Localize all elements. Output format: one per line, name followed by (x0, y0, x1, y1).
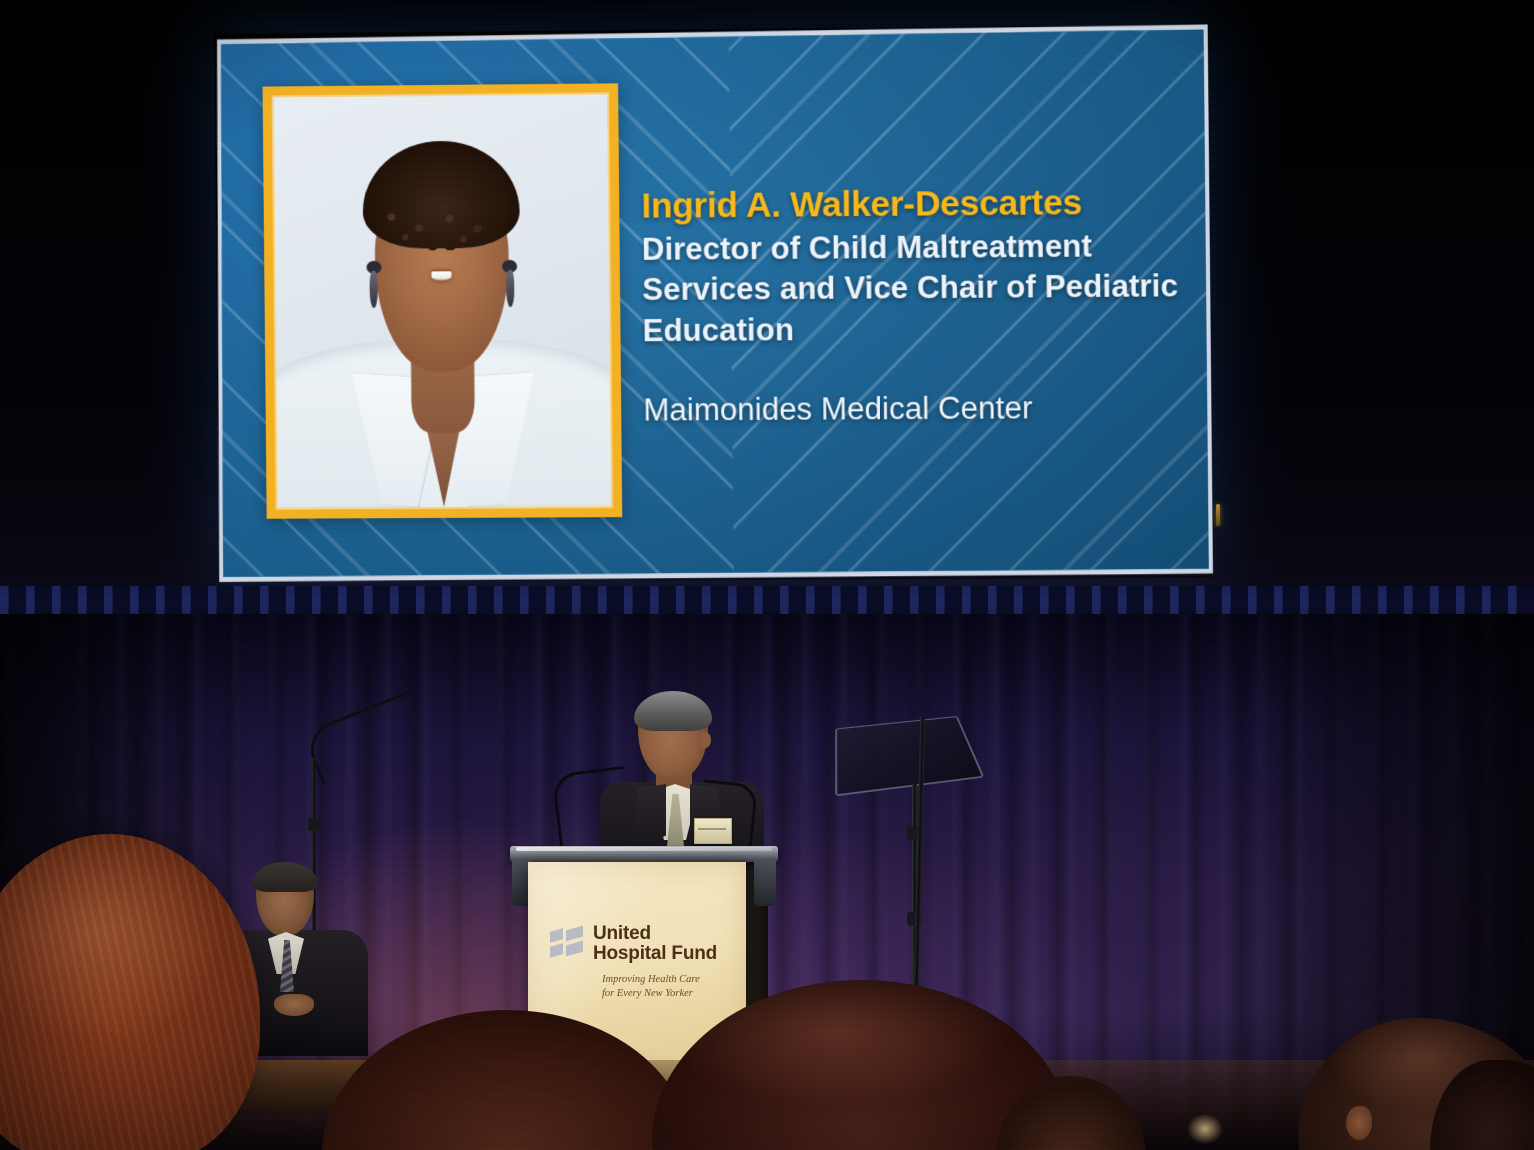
slide-speaker-org: Maimonides Medical Center (643, 388, 1191, 429)
uhf-logo-tagline: Improving Health Care for Every New York… (602, 973, 730, 1001)
audience-ear-right (1346, 1106, 1372, 1140)
uhf-logo-line-1: United (593, 923, 651, 944)
table-lamp-glow (1185, 1112, 1225, 1146)
seated-person-hair (252, 862, 318, 892)
stage-indicator-light (1216, 504, 1220, 526)
seated-person-hands (274, 994, 314, 1016)
slide-text-block: Ingrid A. Walker-Descartes Director of C… (641, 183, 1191, 429)
projection-screen[interactable]: Ingrid A. Walker-Descartes Director of C… (214, 24, 1213, 582)
portrait-smile (432, 272, 452, 280)
speaker-ear (700, 732, 711, 748)
podium-top-highlight (516, 847, 772, 851)
speaker-portrait-frame (263, 83, 623, 518)
podium-top-rail (510, 846, 778, 862)
podium-microphone-right (697, 779, 759, 851)
podium-microphone-left (551, 766, 634, 857)
uhf-tagline-line-1: Improving Health Care (602, 974, 700, 985)
uhf-tagline-line-2: for Every New Yorker (602, 988, 693, 999)
uhf-logo-mark-icon (550, 927, 584, 961)
united-hospital-fund-logo: United Hospital Fund Improving Health Ca… (550, 924, 730, 1002)
conference-photo: Ingrid A. Walker-Descartes Director of C… (0, 0, 1534, 1150)
podium-bracket-right (754, 860, 776, 906)
uhf-logo-wordmark: United Hospital Fund (593, 924, 717, 964)
music-stand-plate (835, 716, 984, 797)
mic-clamp-left (308, 818, 320, 831)
slide-speaker-title: Director of Child Maltreatment Services … (642, 226, 1191, 352)
uhf-logo-line-2: Hospital Fund (593, 943, 717, 964)
speaker-portrait (272, 92, 613, 509)
speaker-hair (634, 691, 712, 731)
presentation-slide: Ingrid A. Walker-Descartes Director of C… (218, 30, 1209, 577)
slide-speaker-name: Ingrid A. Walker-Descartes (641, 183, 1189, 225)
